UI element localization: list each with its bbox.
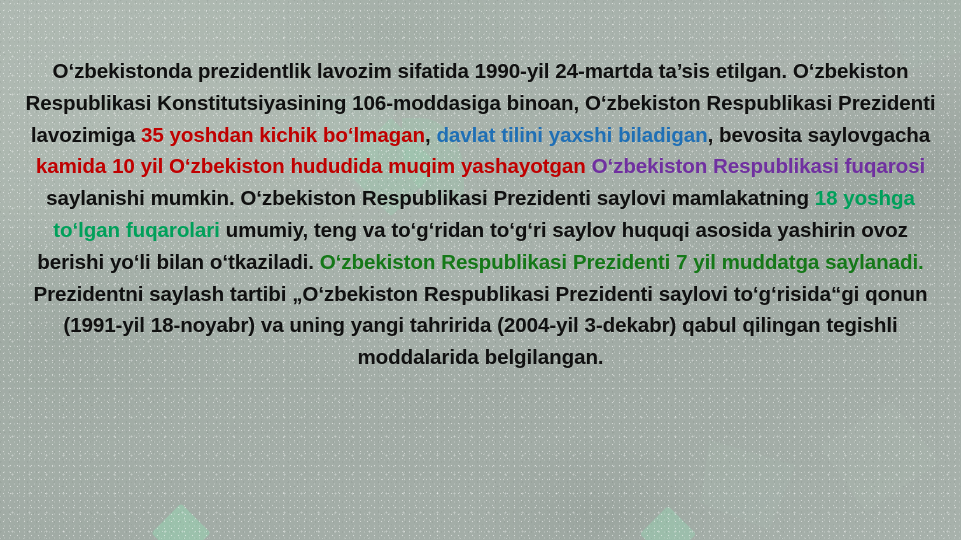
text-run-residency-requirement: kamida 10 yil O‘zbekiston hududida muqim… xyxy=(36,155,592,178)
slide-body-text: O‘zbekistonda prezidentlik lavozim sifat… xyxy=(22,56,939,374)
presentation-slide: O‘zbekistonda prezidentlik lavozim sifat… xyxy=(0,0,961,540)
text-run-citizenship-requirement: O‘zbekiston Respublikasi fuqarosi xyxy=(592,155,926,178)
text-run-separator-1: , xyxy=(425,124,436,147)
text-run-separator-2: , bevosita saylovgacha xyxy=(708,124,931,147)
text-run-election-intro: saylanishi mumkin. O‘zbekiston Respublik… xyxy=(46,187,815,210)
body-paragraph: O‘zbekistonda prezidentlik lavozim sifat… xyxy=(22,56,939,374)
text-run-legal-basis: Prezidentni saylash tartibi „O‘zbekiston… xyxy=(33,283,927,370)
text-run-term-length: O‘zbekiston Respublikasi Prezidenti 7 yi… xyxy=(320,251,924,274)
text-run-age-requirement: 35 yoshdan kichik bo‘lmagan xyxy=(141,124,425,147)
text-run-language-requirement: davlat tilini yaxshi biladigan xyxy=(436,124,707,147)
